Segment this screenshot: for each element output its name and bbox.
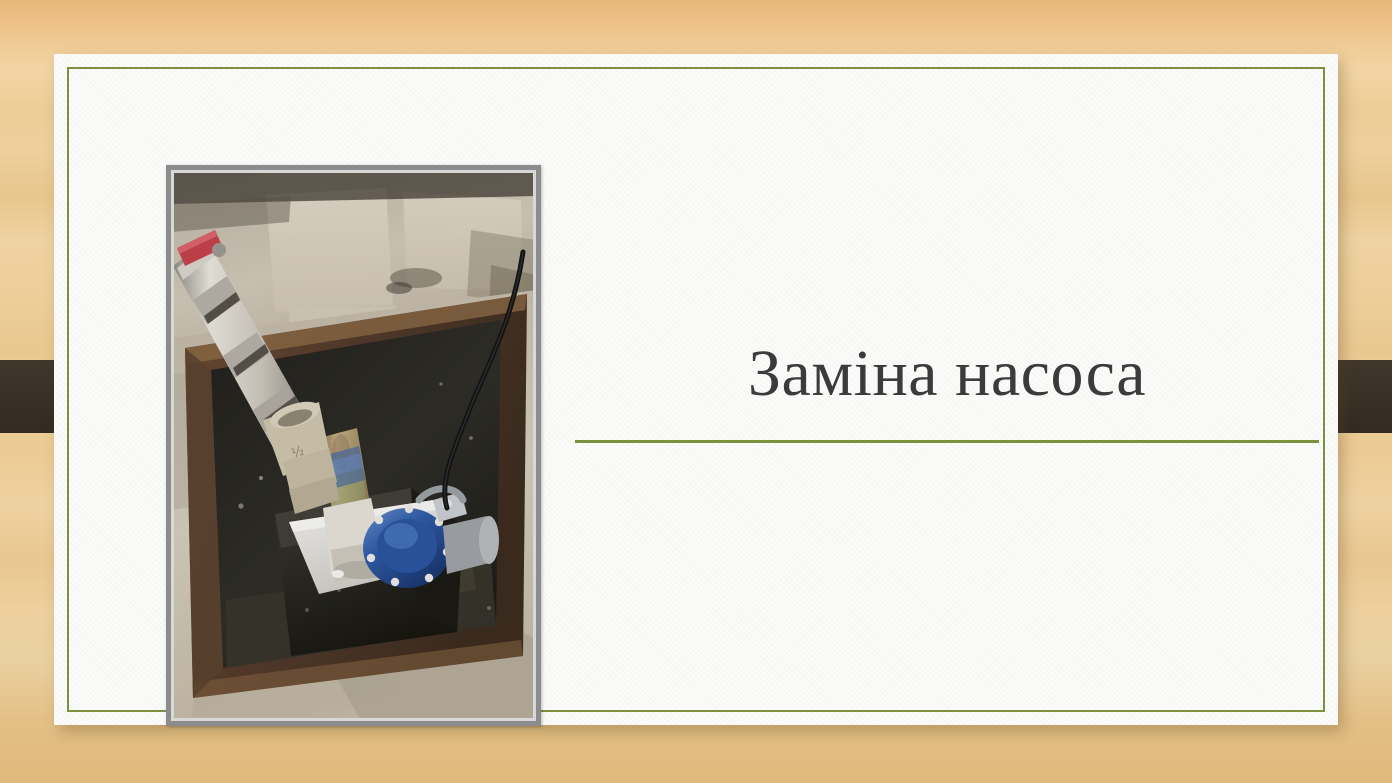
slide-card: ½ [54, 54, 1338, 725]
pump-photo-illustration: ½ [171, 170, 536, 721]
content-picture: ½ [171, 170, 536, 721]
slide: ½ [0, 0, 1392, 783]
title-block: Заміна насоса [575, 337, 1319, 443]
page-title: Заміна насоса [575, 337, 1319, 411]
title-underline-rule [575, 440, 1319, 443]
content-picture-frame[interactable]: ½ [166, 165, 541, 726]
